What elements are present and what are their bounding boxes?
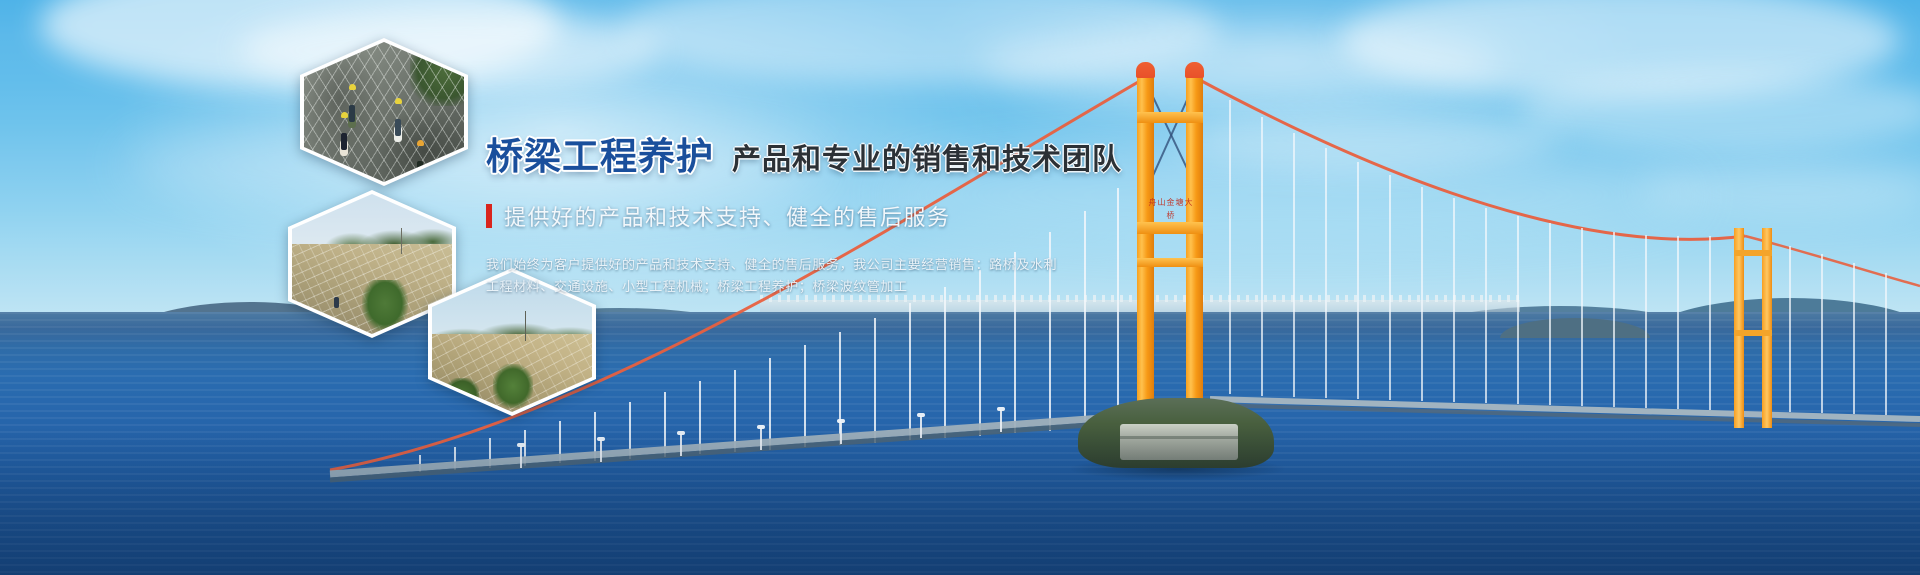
worker-figure [334, 297, 339, 308]
worker-legs [349, 105, 355, 122]
hero-banner: 舟山金塘大桥 [0, 0, 1920, 575]
bridge-tower-crossbeam [1137, 112, 1203, 123]
helmet-icon [341, 112, 348, 118]
foreground-tree [493, 364, 533, 408]
worker-legs [395, 119, 401, 136]
bridge-tower-cap-right [1185, 62, 1204, 78]
subheadline-text: 提供好的产品和技术支持、健全的售后服务 [504, 200, 951, 232]
deck-lamp [760, 428, 762, 450]
bridge-far-tower-crossbeam [1734, 330, 1772, 336]
deck-lamp [1000, 410, 1002, 432]
worker-legs [417, 161, 423, 178]
bridge-far-tower-leg-right [1762, 228, 1772, 428]
wire-mesh-overlay [304, 42, 464, 182]
worker-body [416, 168, 424, 182]
helmet-icon [349, 84, 356, 90]
shrub [445, 378, 479, 412]
utility-pole [401, 228, 402, 254]
subheadline-row: 提供好的产品和技术支持、健全的售后服务 [486, 200, 1466, 232]
bridge-far-tower-crossbeam [1734, 250, 1772, 256]
headline-primary: 桥梁工程养护 [486, 126, 714, 180]
worker-legs [341, 133, 347, 150]
deck-left-shadow [330, 422, 1130, 480]
headline-row: 桥梁工程养护 产品和专业的销售和技术团队 [486, 126, 1466, 180]
hex-photo-cliff [300, 38, 468, 186]
hex-frame [300, 38, 468, 186]
hex-image-clip [304, 42, 464, 182]
deck-lamp [680, 434, 682, 456]
description-line-1: 我们始终为客户提供好的产品和技术支持、健全的售后服务，我公司主要经营销售：路桥及… [486, 254, 1466, 276]
accent-bar [486, 204, 492, 228]
deck-lamp [840, 422, 842, 444]
photo-cliff-netting [304, 42, 464, 182]
deck-lamp [520, 446, 522, 468]
deck-lamp [600, 440, 602, 462]
utility-wire [525, 311, 526, 341]
banner-copy: 桥梁工程养护 产品和专业的销售和技术团队 提供好的产品和技术支持、健全的售后服务… [486, 126, 1466, 298]
description-line-2: 工程材料、交通设施、小型工程机械；桥梁工程养护；桥梁波纹管加工 [486, 276, 1466, 298]
banner-description: 我们始终为客户提供好的产品和技术支持、健全的售后服务，我公司主要经营销售：路桥及… [486, 254, 1466, 298]
helmet-icon [395, 98, 402, 104]
bridge-tower-cap-left [1136, 62, 1155, 78]
bridge-far-tower-leg-left [1734, 228, 1744, 428]
deck-lamp [920, 416, 922, 438]
headline-secondary: 产品和专业的销售和技术团队 [732, 136, 1122, 178]
bridge-anchorage-structure [1120, 424, 1238, 460]
helmet-icon [417, 140, 424, 146]
deck-left [330, 416, 1130, 474]
foreground-tree [362, 280, 408, 332]
